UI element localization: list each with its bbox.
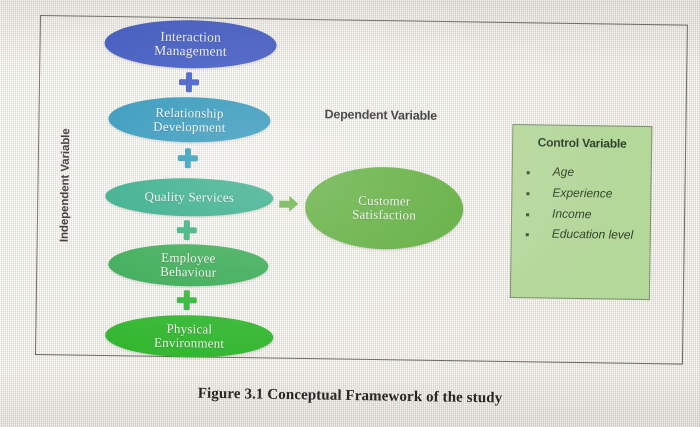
photographed-page: Independent Variable Dependent Variable … — [0, 0, 700, 427]
independent-variable-label: Independent Variable — [59, 128, 73, 242]
node-customer-satisfaction[interactable]: Customer Satisfaction — [305, 166, 464, 250]
node-physical-environment[interactable]: Physical Environment — [105, 314, 274, 358]
node-line-2: Management — [148, 44, 233, 60]
plus-operator-icon-3 — [177, 220, 197, 240]
plus-operator-icon-1 — [179, 72, 199, 92]
list-item: Experience — [526, 186, 650, 202]
node-line-2: Development — [147, 119, 231, 134]
node-employee-behaviour[interactable]: Employee Behaviour — [108, 243, 269, 287]
list-item: Income — [526, 207, 650, 223]
control-variable-list: Age Experience Income Education level — [512, 165, 651, 243]
node-quality-services[interactable]: Quality Services — [105, 177, 274, 217]
plus-operator-icon-4 — [177, 290, 197, 310]
node-line-2: Behaviour — [154, 265, 222, 280]
node-relationship-development[interactable]: Relationship Development — [108, 96, 271, 143]
dependent-variable-label: Dependent Variable — [324, 107, 437, 123]
plus-operator-icon-2 — [178, 148, 198, 168]
arrow-right-icon — [279, 196, 299, 212]
control-variable-box: Control Variable Age Experience Income E… — [510, 124, 653, 300]
node-line-2: Satisfaction — [346, 208, 422, 223]
node-line-1: Quality Services — [138, 190, 240, 205]
control-variable-title: Control Variable — [513, 135, 651, 151]
diagram-content: Independent Variable Dependent Variable … — [0, 0, 700, 427]
arrow-head — [289, 196, 298, 212]
node-line-2: Environment — [148, 336, 230, 351]
node-interaction-management[interactable]: Interaction Management — [104, 19, 277, 70]
list-item: Age — [527, 165, 651, 181]
list-item: Education level — [526, 228, 650, 244]
